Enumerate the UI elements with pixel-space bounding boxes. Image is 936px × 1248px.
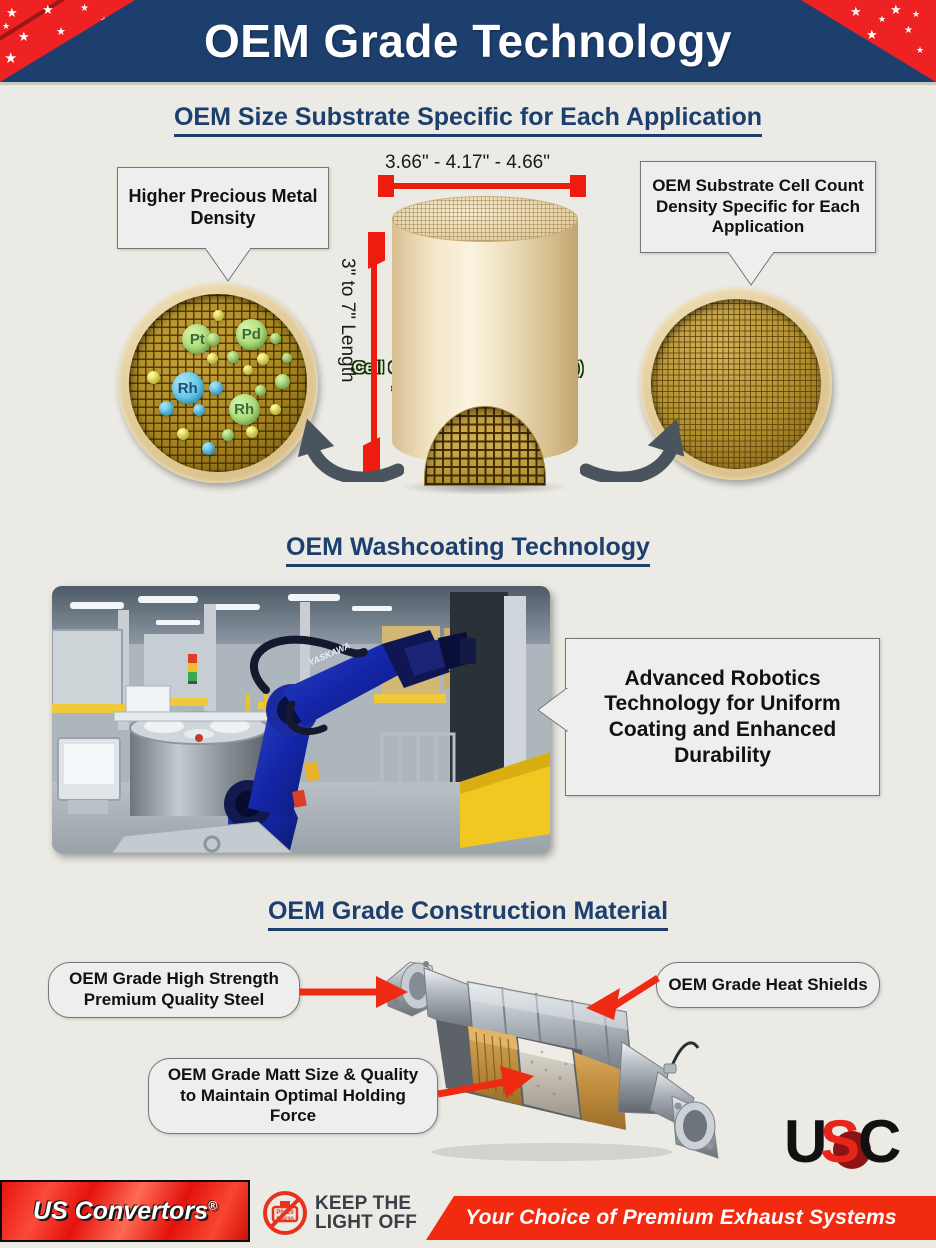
callout-tail-robotics [538, 688, 568, 732]
arrow-to-matt [438, 1062, 548, 1104]
connector-arrow-left [286, 404, 404, 482]
no-symbol-icon: P0420 P0430 [262, 1190, 308, 1236]
width-dimension-label: 3.66" - 4.17" - 4.66" [385, 152, 550, 174]
metal-particle-pd: Pd [236, 319, 267, 350]
metal-particle-dot [159, 401, 174, 416]
page-footer: US Convertors® P0420 P0430 KEEP THE LIGH… [0, 1176, 936, 1248]
callout-matt-size: OEM Grade Matt Size & Quality to Maintai… [148, 1058, 438, 1134]
metal-particle-dot [177, 428, 189, 440]
callout-tail-left [205, 248, 251, 282]
metal-particle-dot [270, 333, 281, 344]
metal-particle-dot [202, 442, 215, 455]
registered-mark: ® [208, 1198, 217, 1212]
callout-advanced-robotics: Advanced Robotics Technology for Uniform… [565, 638, 880, 796]
metal-particle-dot [207, 333, 220, 346]
logo-letter-c: C [858, 1110, 901, 1172]
tagline-text: Your Choice of Premium Exhaust Systems [465, 1206, 897, 1230]
callout-premium-steel: OEM Grade High Strength Premium Quality … [48, 962, 300, 1018]
callout-tail-right [728, 252, 774, 286]
connector-arrow-right [580, 404, 698, 482]
logo-letter-s: S [820, 1110, 860, 1172]
width-dimension-arrow [378, 175, 586, 197]
tagline-banner: Your Choice of Premium Exhaust Systems [426, 1196, 936, 1240]
arrow-to-heat-shields [586, 972, 662, 1026]
callout-cell-count-density: OEM Substrate Cell Count Density Specifi… [640, 161, 876, 253]
factory-scene: YASKAWA [52, 586, 550, 853]
keep-light-off-text: KEEP THE LIGHT OFF [315, 1194, 417, 1233]
length-dimension-label: 3" to 7" Length [336, 258, 358, 382]
metal-particle-rh-green: Rh [229, 394, 260, 425]
metal-particle-dot [213, 310, 224, 321]
header-divider [0, 82, 936, 85]
metal-particle-dot [193, 404, 205, 416]
substrate-cylinder [392, 196, 578, 486]
callout-precious-metal-density: Higher Precious Metal Density [117, 167, 329, 249]
heading-substrate: OEM Size Substrate Specific for Each App… [0, 103, 936, 132]
arrow-to-steel [300, 974, 410, 1010]
infographic-page: ★ ★ ★ ★ ★ ★ ★ ★ ★ ★ ★ ★ ★ ★ ★ ★ ★ ★ ★ ★ … [0, 0, 936, 1248]
metal-particle-dot [270, 404, 281, 415]
metal-particle-dot [246, 426, 258, 438]
cylinder-top-face [392, 196, 578, 242]
robotics-factory-photo: YASKAWA [52, 586, 550, 853]
heading-construction: OEM Grade Construction Material [0, 897, 936, 926]
usc-logo: U S C [784, 1110, 914, 1172]
page-header: ★ ★ ★ ★ ★ ★ ★ ★ ★ ★ ★ ★ ★ ★ ★ ★ ★ ★ ★ ★ … [0, 0, 936, 82]
metal-particle-dot [222, 429, 234, 441]
page-title: OEM Grade Technology [0, 0, 936, 82]
brand-banner: US Convertors® [0, 1180, 250, 1242]
brand-name: US Convertors® [33, 1197, 217, 1226]
callout-heat-shields: OEM Grade Heat Shields [656, 962, 880, 1008]
keep-light-off-badge: P0420 P0430 KEEP THE LIGHT OFF [262, 1190, 417, 1236]
heading-washcoating: OEM Washcoating Technology [0, 533, 936, 562]
